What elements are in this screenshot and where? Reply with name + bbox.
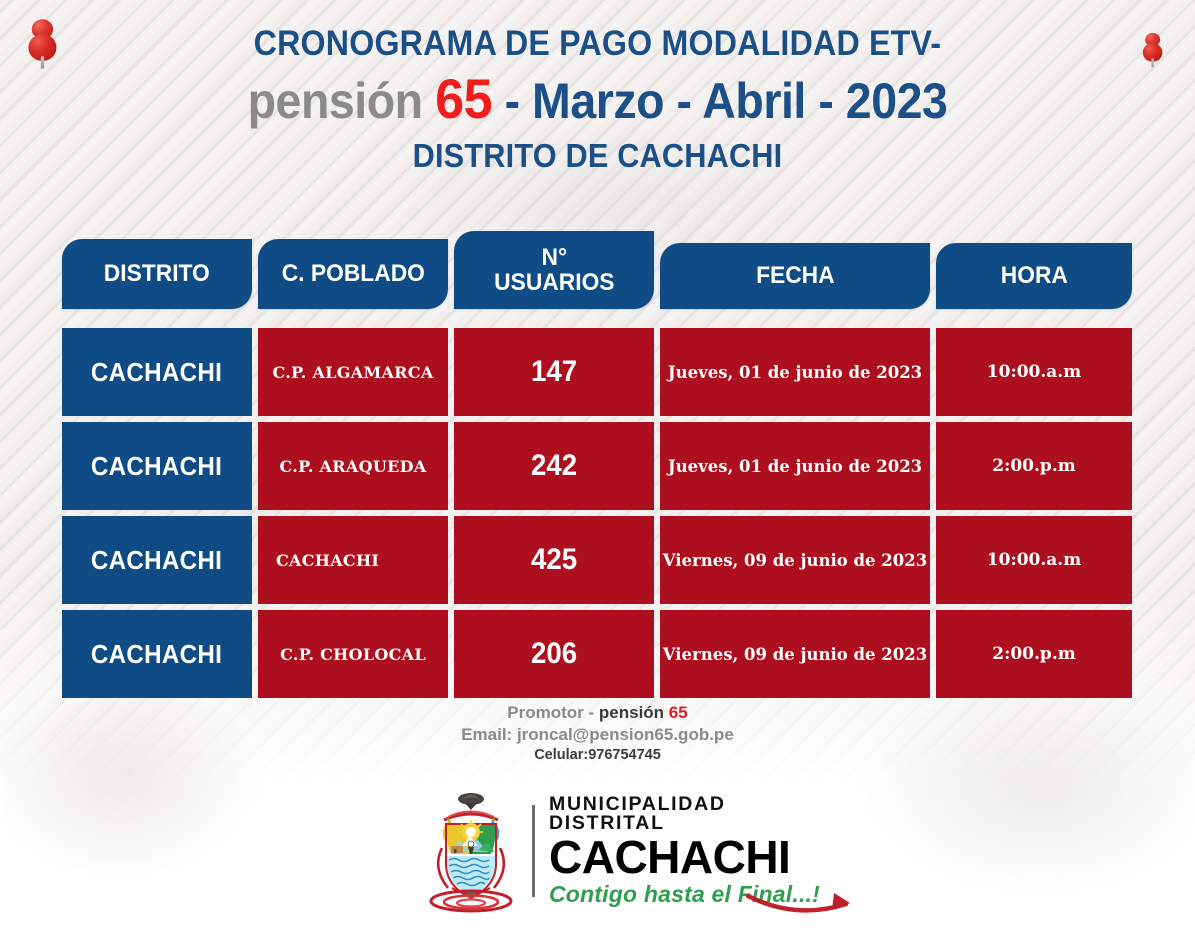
title-line-2: pensión 65 - Marzo - Abril - 2023 [42, 66, 1153, 131]
promotor-pension-word: pensión [599, 703, 664, 722]
cell-numero-usuarios: 147 [454, 328, 654, 416]
promotor-line: Promotor - pensión 65 [0, 702, 1195, 724]
logo-slogan: Contigo hasta el Final...! [549, 883, 848, 906]
cell-hora: 2:00.p.m [936, 422, 1132, 510]
title-subtitle-district: DISTRITO DE CACHACHI [42, 137, 1153, 175]
cell-fecha: Viernes, 09 de junio de 2023 [660, 610, 930, 698]
table-row: CACHACHI C.P. CHOLOCAL 206 Viernes, 09 d… [62, 610, 1140, 698]
logo-line-municipalidad: MUNICIPALIDAD DISTRITAL [549, 795, 848, 834]
cell-centro-poblado: CACHACHI [258, 516, 448, 604]
page-title: CRONOGRAMA DE PAGO MODALIDAD ETV- pensió… [0, 24, 1195, 175]
pension-word: pensión [248, 73, 423, 129]
promotor-label: Promotor - [507, 703, 594, 722]
cell-numero-usuarios: 242 [454, 422, 654, 510]
cell-distrito: CACHACHI [62, 328, 252, 416]
column-header-usuarios-line2: USUARIOS [494, 269, 614, 296]
poster-canvas: CRONOGRAMA DE PAGO MODALIDAD ETV- pensió… [0, 0, 1195, 946]
table-row: CACHACHI C.P. ALGAMARCA 147 Jueves, 01 d… [62, 328, 1140, 416]
cell-numero-usuarios: 425 [454, 516, 654, 604]
municipality-logo: MUNICIPALIDAD DISTRITAL CACHACHI Contigo… [418, 788, 848, 913]
cachachi-coat-of-arms-icon [418, 788, 524, 913]
column-header-hora: HORA [936, 243, 1132, 309]
cell-hora: 2:00.p.m [936, 610, 1132, 698]
promotor-pension-number: 65 [669, 703, 688, 722]
cell-centro-poblado: C.P. ALGAMARCA [258, 328, 448, 416]
contact-celular: Celular:976754745 [0, 746, 1195, 765]
cell-hora: 10:00.a.m [936, 516, 1132, 604]
cell-distrito: CACHACHI [62, 610, 252, 698]
column-header-fecha: FECHA [660, 243, 930, 309]
cell-numero-usuarios: 206 [454, 610, 654, 698]
table-row: CACHACHI C.P. ARAQUEDA 242 Jueves, 01 de… [62, 422, 1140, 510]
table-row: CACHACHI CACHACHI 425 Viernes, 09 de jun… [62, 516, 1140, 604]
title-months: - Marzo - Abril - 2023 [505, 73, 948, 129]
column-header-distrito: DISTRITO [62, 239, 252, 309]
cell-distrito: CACHACHI [62, 516, 252, 604]
column-header-usuarios-line1: N° [541, 244, 567, 271]
table-header-row: DISTRITO C. POBLADO N° USUARIOS FECHA HO… [62, 231, 1140, 309]
contact-block: Promotor - pensión 65 Email: jroncal@pen… [0, 702, 1195, 764]
title-line-1: CRONOGRAMA DE PAGO MODALIDAD ETV- [48, 24, 1147, 64]
cell-fecha: Jueves, 01 de junio de 2023 [660, 422, 930, 510]
logo-divider [532, 805, 535, 897]
cell-hora: 10:00.a.m [936, 328, 1132, 416]
pension-number: 65 [435, 67, 492, 130]
column-header-numero-usuarios: N° USUARIOS [454, 231, 654, 309]
logo-text-block: MUNICIPALIDAD DISTRITAL CACHACHI Contigo… [549, 795, 848, 906]
cell-centro-poblado: C.P. CHOLOCAL [258, 610, 448, 698]
payment-schedule-table: DISTRITO C. POBLADO N° USUARIOS FECHA HO… [62, 231, 1140, 704]
cell-centro-poblado: C.P. ARAQUEDA [258, 422, 448, 510]
cell-fecha: Viernes, 09 de junio de 2023 [660, 516, 930, 604]
column-header-centro-poblado: C. POBLADO [258, 239, 448, 309]
cell-fecha: Jueves, 01 de junio de 2023 [660, 328, 930, 416]
contact-email: Email: jroncal@pension65.gob.pe [0, 724, 1195, 746]
cell-distrito: CACHACHI [62, 422, 252, 510]
logo-line-cachachi: CACHACHI [549, 835, 848, 880]
